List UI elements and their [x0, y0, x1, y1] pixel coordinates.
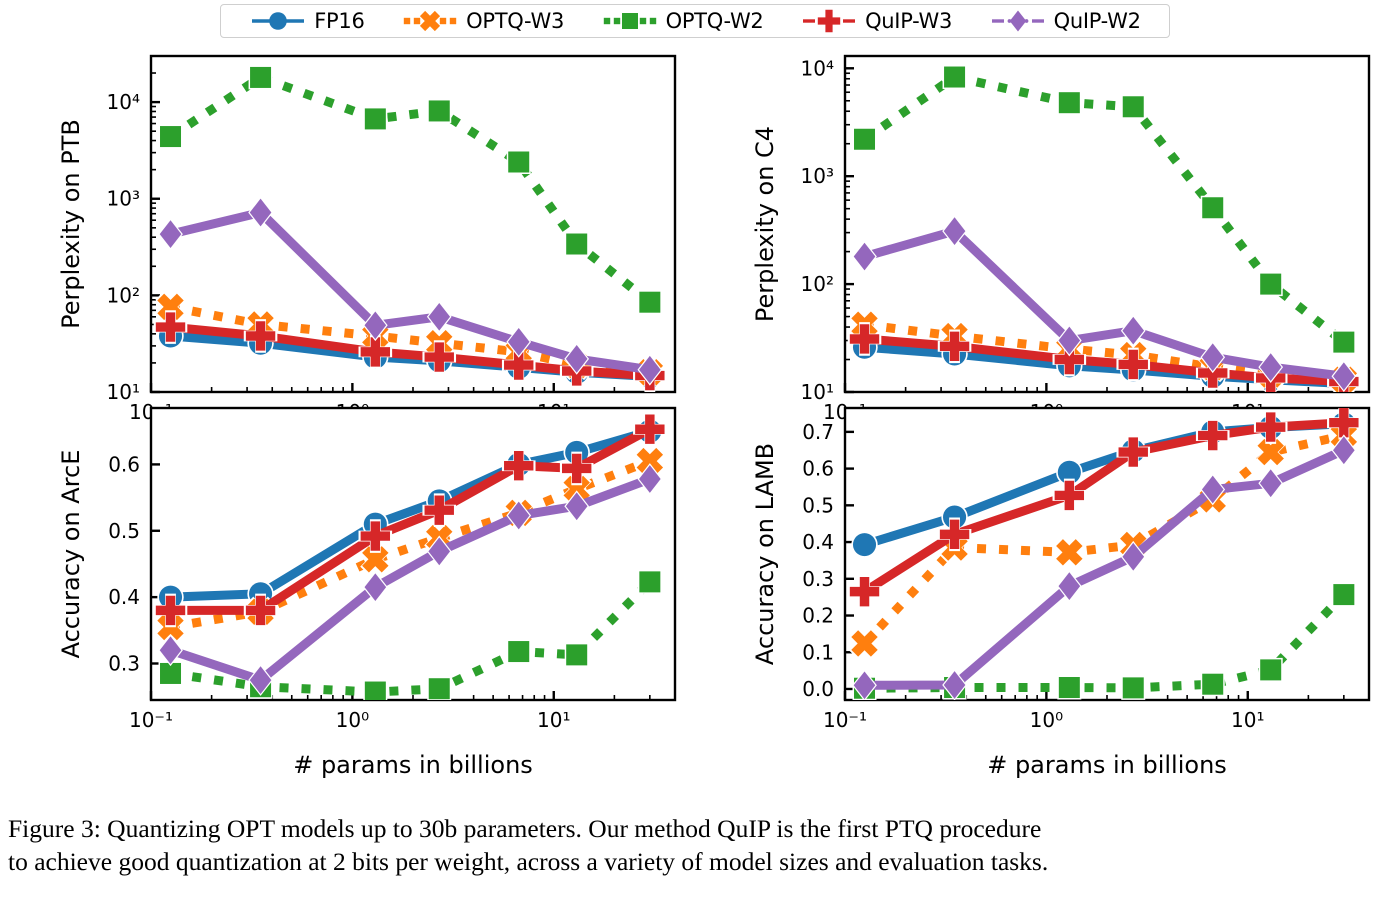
panel-perplexity-on-c4: 10⁻¹10⁰10¹10¹10²10³10⁴Perplexity on C4 [694, 44, 1388, 444]
legend-swatch-diamond-icon [989, 9, 1047, 33]
y-tick-label: 10⁴ [107, 90, 140, 114]
panel-perplexity-on-ptb: 10⁻¹10⁰10¹10¹10²10³10⁴Perplexity on PTB [0, 44, 694, 444]
legend-entry-fp16[interactable]: FP16 [249, 9, 364, 33]
y-tick-label: 0.4 [108, 585, 140, 609]
legend-entry-quip-w2[interactable]: QuIP-W2 [989, 9, 1141, 33]
y-tick-label: 0.5 [108, 519, 140, 543]
legend-swatch-square-icon [601, 9, 659, 33]
chart-c4: 10⁻¹10⁰10¹10¹10²10³10⁴Perplexity on C4 [694, 44, 1388, 444]
chart-lamb: 10⁻¹10⁰10¹0.00.10.20.30.40.50.60.7Accura… [694, 396, 1388, 796]
legend-swatch-plus-icon [800, 9, 858, 33]
y-tick-label: 10³ [107, 187, 140, 211]
x-tick-label: 10¹ [1231, 708, 1264, 732]
panel-accuracy-on-arce: 10⁻¹10⁰10¹0.30.40.50.6Accuracy on ArcE# … [0, 396, 694, 796]
figure-3-quantizing-opt-models: FP16OPTQ-W3OPTQ-W2QuIP-W3QuIP-W2 10⁻¹10⁰… [0, 0, 1388, 900]
chart-arce: 10⁻¹10⁰10¹0.30.40.50.6Accuracy on ArcE# … [0, 396, 694, 796]
legend-label: OPTQ-W2 [666, 9, 764, 33]
legend-entry-optq-w2[interactable]: OPTQ-W2 [601, 9, 764, 33]
y-tick-label: 0.2 [802, 604, 834, 628]
x-tick-label: 10⁻¹ [823, 708, 867, 732]
panel-accuracy-on-lamb: 10⁻¹10⁰10¹0.00.10.20.30.40.50.60.7Accura… [694, 396, 1388, 796]
x-tick-label: 10⁰ [336, 708, 369, 732]
legend-entry-quip-w3[interactable]: QuIP-W3 [800, 9, 952, 33]
caption-line-1: Figure 3: Quantizing OPT models up to 30… [8, 812, 1382, 845]
y-tick-label: 10³ [801, 164, 834, 188]
y-tick-label: 0.6 [802, 457, 834, 481]
legend-entry-optq-w3[interactable]: OPTQ-W3 [401, 9, 564, 33]
x-axis-label: # params in billions [987, 751, 1227, 779]
y-tick-label: 0.3 [108, 652, 140, 676]
legend-swatch-x-icon [401, 9, 459, 33]
y-tick-label: 10² [801, 272, 834, 296]
x-tick-label: 10⁰ [1030, 708, 1063, 732]
x-axis-label: # params in billions [293, 751, 533, 779]
y-axis-label: Perplexity on PTB [57, 119, 85, 329]
y-tick-label: 10² [107, 283, 140, 307]
chart-ptb: 10⁻¹10⁰10¹10¹10²10³10⁴Perplexity on PTB [0, 44, 694, 444]
y-tick-label: 0.3 [802, 567, 834, 591]
y-tick-label: 0.1 [802, 640, 834, 664]
legend-label: FP16 [314, 9, 364, 33]
y-tick-label: 10⁴ [801, 56, 834, 80]
x-tick-label: 10¹ [537, 708, 570, 732]
y-tick-label: 0.5 [802, 493, 834, 517]
y-axis-label: Accuracy on LAMB [751, 443, 779, 665]
y-tick-label: 0.0 [802, 677, 834, 701]
legend-swatch-circle-icon [249, 9, 307, 33]
legend-label: QuIP-W2 [1054, 9, 1141, 33]
y-tick-label: 0.6 [108, 452, 140, 476]
legend-label: OPTQ-W3 [466, 9, 564, 33]
y-tick-label: 0.7 [802, 420, 834, 444]
y-tick-label: 0.4 [802, 530, 834, 554]
chart-legend: FP16OPTQ-W3OPTQ-W2QuIP-W3QuIP-W2 [220, 4, 1170, 38]
legend-label: QuIP-W3 [865, 9, 952, 33]
y-axis-label: Accuracy on ArcE [57, 450, 85, 659]
x-tick-label: 10⁻¹ [129, 708, 173, 732]
caption-line-2: to achieve good quantization at 2 bits p… [8, 845, 1382, 878]
figure-caption: Figure 3: Quantizing OPT models up to 30… [8, 812, 1382, 878]
y-axis-label: Perplexity on C4 [751, 126, 779, 322]
